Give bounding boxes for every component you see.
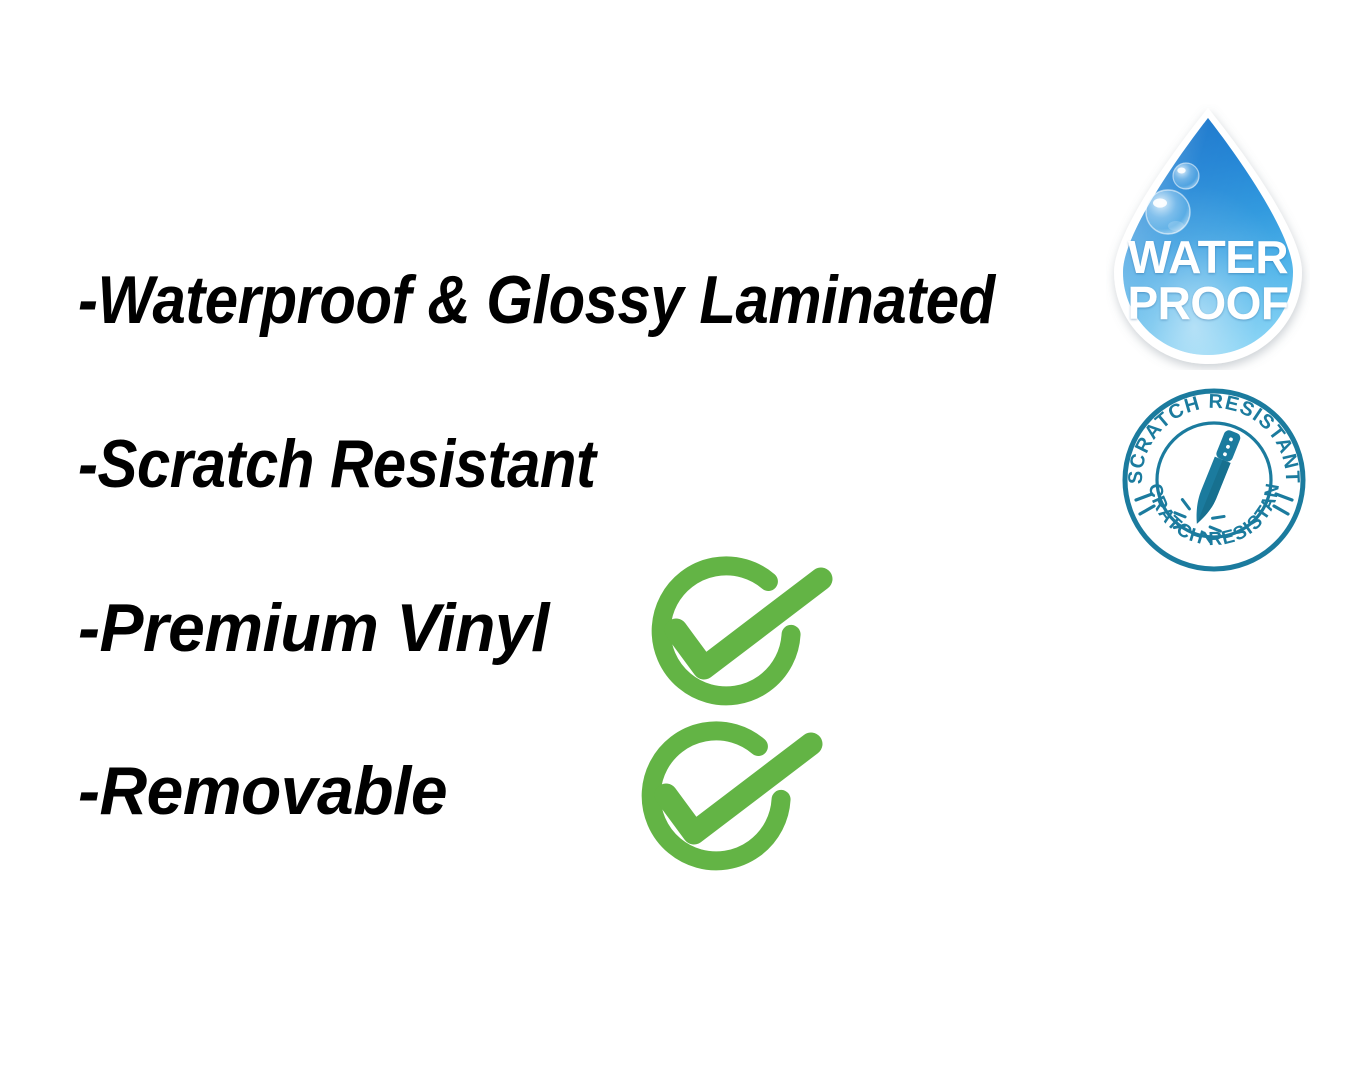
feature-item-premium-vinyl: -Premium Vinyl	[78, 589, 549, 667]
bubble-large-icon	[1146, 190, 1190, 234]
feature-item-waterproof: -Waterproof & Glossy Laminated	[78, 261, 995, 339]
product-feature-graphic: -Waterproof & Glossy Laminated -Scratch …	[0, 0, 1359, 1080]
checkmark-removable	[628, 717, 828, 887]
check-circle-icon	[638, 552, 838, 722]
bubble-small-icon	[1173, 163, 1199, 189]
knife-seal-icon: SCRATCH RESISTANT SCRATCH RESISTANT	[1118, 384, 1310, 576]
checkmark-premium-vinyl	[638, 552, 838, 722]
feature-item-scratch-resistant: -Scratch Resistant	[78, 425, 596, 503]
water-drop-icon	[1106, 104, 1310, 370]
waterproof-badge: WATER PROOF	[1106, 104, 1310, 370]
feature-list: -Waterproof & Glossy Laminated -Scratch …	[0, 0, 1100, 1080]
feature-item-removable: -Removable	[78, 752, 447, 830]
scratch-resistant-badge: SCRATCH RESISTANT SCRATCH RESISTANT	[1118, 384, 1310, 576]
check-circle-icon	[628, 717, 828, 887]
